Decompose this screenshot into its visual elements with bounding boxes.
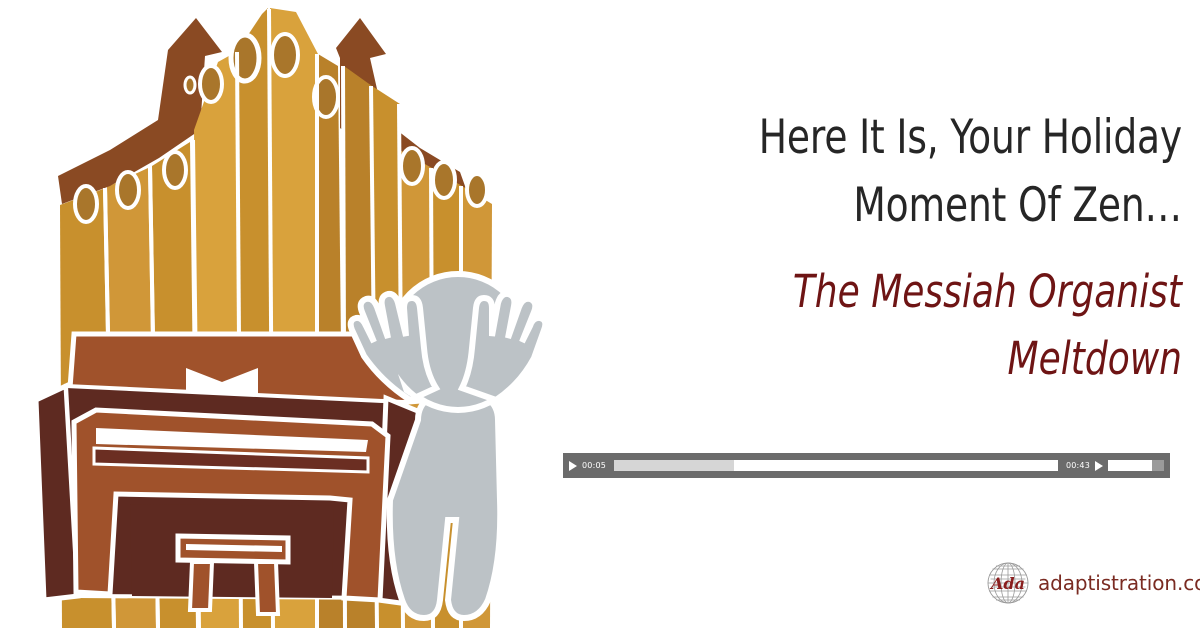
total-time-label: 00:43 — [1066, 461, 1090, 470]
site-url-label: adaptistration.com — [1038, 571, 1200, 595]
seek-slider[interactable] — [614, 460, 1058, 471]
page-subtitle: The Messiah Organist Meltdown — [684, 239, 1182, 392]
promo-graphic-canvas: Here It Is, Your Holiday Moment Of Zen… … — [0, 0, 1200, 628]
volume-slider-handle[interactable] — [1152, 460, 1164, 471]
adaptistration-globe-logo-icon: Ada — [986, 561, 1030, 605]
current-time-label: 00:05 — [582, 461, 606, 470]
seek-buffer-fill — [614, 460, 734, 471]
volume-play-triangle-icon[interactable] — [1095, 461, 1103, 471]
logo-monogram-text: Ada — [989, 574, 1025, 593]
media-player-bar[interactable]: 00:05 00:43 — [563, 453, 1170, 478]
organ-bench-leg — [256, 562, 278, 614]
pipe-organ-illustration — [0, 0, 580, 628]
figure-right-arm — [462, 294, 545, 400]
page-title: Here It Is, Your Holiday Moment Of Zen… — [684, 104, 1182, 239]
volume-slider[interactable] — [1108, 460, 1164, 471]
play-triangle-icon[interactable] — [569, 461, 577, 471]
brand-lockup[interactable]: Ada adaptistration.com — [986, 561, 1200, 605]
promo-text-block: Here It Is, Your Holiday Moment Of Zen… … — [560, 104, 1182, 393]
organ-bench-leg — [190, 562, 212, 610]
